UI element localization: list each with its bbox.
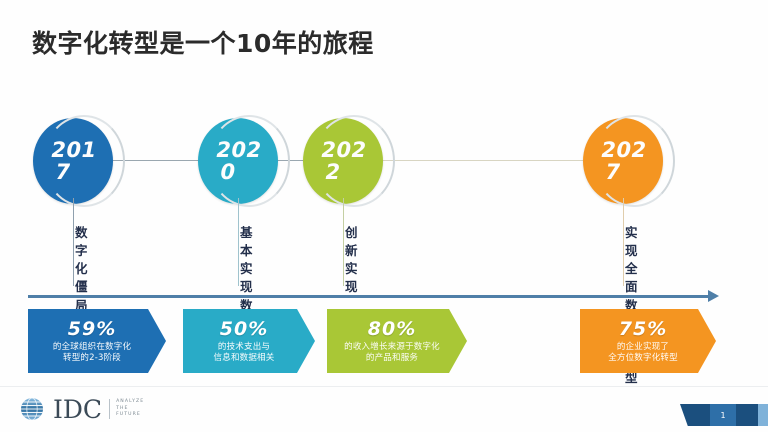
logo-divider — [109, 399, 110, 419]
node-stem-2020 — [238, 198, 239, 286]
slide-canvas: 数字化转型是一个10年的旅程 201 7 数字化僵 局阶段 202 0 基本实现… — [0, 0, 768, 432]
node-stem-2017 — [73, 198, 74, 286]
page-block-shape-1 — [680, 404, 710, 426]
year-label-2022: 202 2 — [303, 118, 383, 204]
stat-description: 的技术支出与 信息和数据相关 — [214, 342, 275, 365]
stat-banner-80[interactable]: 80% 的收入增长来源于数字化 的产品和服务 — [327, 309, 467, 373]
connector-line-3 — [381, 160, 583, 161]
stat-percent: 59% — [68, 318, 116, 340]
idc-logo: IDC ANALYZE THE FUTURE — [18, 394, 144, 424]
stat-banner-75[interactable]: 75% 的企业实现了 全方位数字化转型 — [580, 309, 716, 373]
stat-description: 的收入增长来源于数字化 的产品和服务 — [344, 342, 440, 365]
page-block-shape-2: 1 — [710, 404, 736, 426]
year-text-top: 202 — [321, 139, 366, 161]
year-text-bottom: 0 — [220, 161, 235, 183]
stat-description: 的全球组织在数字化 转型的2-3阶段 — [53, 342, 131, 365]
year-text-bottom: 7 — [605, 161, 620, 183]
timeline-arrow-line — [28, 295, 710, 298]
year-text-top: 201 — [51, 139, 96, 161]
node-stem-2027 — [623, 198, 624, 286]
node-label-2022: 创新实现 — [345, 224, 358, 297]
page-number: 1 — [720, 411, 725, 420]
year-text-bottom: 7 — [55, 161, 70, 183]
connector-line-1 — [112, 160, 200, 161]
year-text-top: 202 — [601, 139, 646, 161]
year-label-2020: 202 0 — [198, 118, 278, 204]
stat-percent: 75% — [619, 318, 667, 340]
page-block-shape-3 — [736, 404, 758, 426]
idc-wordmark: IDC — [53, 397, 102, 422]
node-stem-2022 — [343, 198, 344, 286]
footer-divider — [0, 386, 768, 387]
timeline-arrow-head-icon — [708, 290, 719, 302]
page-block-shape-4 — [758, 404, 768, 426]
stat-description: 的企业实现了 全方位数字化转型 — [608, 342, 678, 365]
page-number-block: 1 — [680, 404, 768, 426]
stat-banner-50[interactable]: 50% 的技术支出与 信息和数据相关 — [183, 309, 315, 373]
year-label-2017: 201 7 — [33, 118, 113, 204]
timeline: 201 7 数字化僵 局阶段 202 0 基本实现 数字化 202 2 创 — [0, 0, 768, 300]
globe-icon — [18, 395, 46, 423]
idc-tagline: ANALYZE THE FUTURE — [116, 399, 144, 419]
stat-banner-59[interactable]: 59% 的全球组织在数字化 转型的2-3阶段 — [28, 309, 166, 373]
year-text-bottom: 2 — [325, 161, 340, 183]
year-text-top: 202 — [216, 139, 261, 161]
stat-percent: 80% — [368, 318, 416, 340]
year-label-2027: 202 7 — [583, 118, 663, 204]
connector-line-2 — [276, 160, 306, 161]
stat-percent: 50% — [220, 318, 268, 340]
